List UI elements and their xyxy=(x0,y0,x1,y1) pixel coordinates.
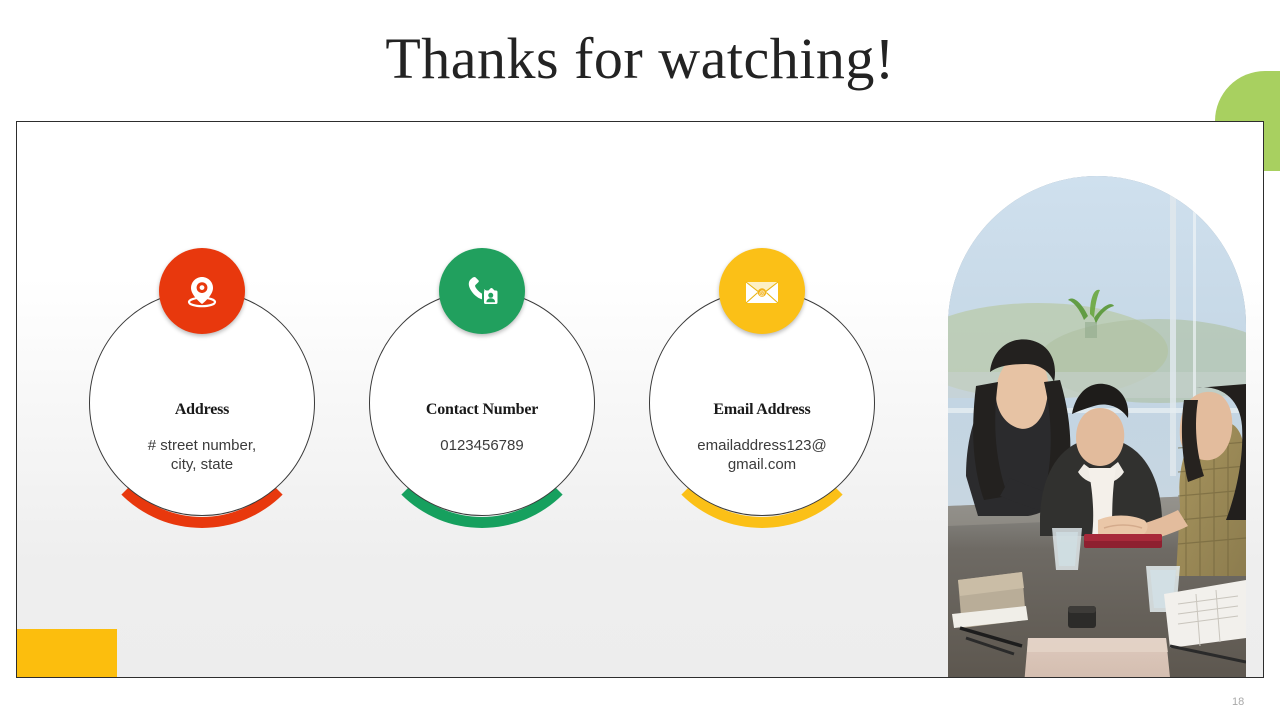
yellow-quarter-circle-decoration xyxy=(17,629,117,678)
card-body: # street number, city, state xyxy=(97,436,307,474)
card-heading: Address xyxy=(97,400,307,420)
card-text-block: Email Address emailaddress123@ gmail.com xyxy=(657,400,867,474)
card-body-line: city, state xyxy=(97,455,307,474)
phone-contact-icon xyxy=(439,248,525,334)
info-card-contact-number[interactable]: Contact Number 0123456789 xyxy=(368,248,596,538)
svg-text:@: @ xyxy=(759,291,765,297)
location-pin-icon xyxy=(159,248,245,334)
card-body-line: # street number, xyxy=(97,436,307,455)
card-body-line: emailaddress123@ xyxy=(657,436,867,455)
info-card-address[interactable]: Address # street number, city, state xyxy=(88,248,316,538)
card-text-block: Contact Number 0123456789 xyxy=(377,400,587,455)
card-body-line: gmail.com xyxy=(657,455,867,474)
content-frame: Address # street number, city, state xyxy=(16,121,1264,678)
page-title: Thanks for watching! xyxy=(0,24,1280,94)
envelope-at-icon: @ xyxy=(719,248,805,334)
card-body-line: 0123456789 xyxy=(377,436,587,455)
card-body: emailaddress123@ gmail.com xyxy=(657,436,867,474)
card-heading: Contact Number xyxy=(377,400,587,420)
meeting-handshake-photo xyxy=(948,176,1246,678)
info-card-email-address[interactable]: @ Email Address emailaddress123@ gmail.c… xyxy=(648,248,876,538)
card-heading: Email Address xyxy=(657,400,867,420)
page-number: 18 xyxy=(1232,696,1272,708)
card-body: 0123456789 xyxy=(377,436,587,455)
card-text-block: Address # street number, city, state xyxy=(97,400,307,474)
presentation-slide: Thanks for watching! Address # street nu… xyxy=(0,0,1280,720)
